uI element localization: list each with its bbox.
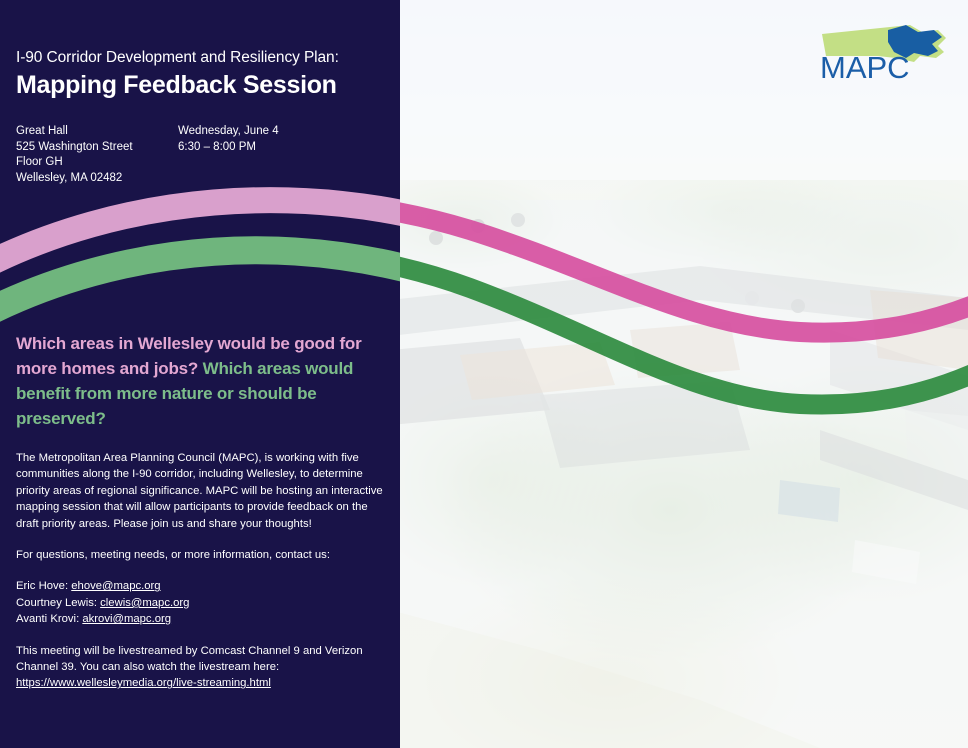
headline-question: Which areas in Wellesley would be good f… [16, 331, 388, 431]
livestream-block: This meeting will be livestreamed by Com… [16, 643, 386, 692]
contact-row: Courtney Lewis: clewis@mapc.org [16, 595, 386, 611]
venue-street: 525 Washington Street [16, 140, 178, 156]
event-time: 6:30 – 8:00 PM [178, 140, 378, 156]
livestream-text: This meeting will be livestreamed by Com… [16, 645, 363, 673]
venue-city-state-zip: Wellesley, MA 02482 [16, 171, 178, 187]
venue-floor: Floor GH [16, 155, 178, 171]
aerial-photo-background [400, 0, 968, 748]
plan-eyebrow: I-90 Corridor Development and Resiliency… [16, 48, 392, 68]
intro-paragraph: The Metropolitan Area Planning Council (… [16, 450, 386, 532]
contact-block: For questions, meeting needs, or more in… [16, 547, 386, 628]
venue-column: Great Hall 525 Washington Street Floor G… [16, 124, 178, 186]
contact-email-link[interactable]: clewis@mapc.org [100, 597, 189, 609]
contact-name: Courtney Lewis: [16, 597, 97, 609]
header-block: I-90 Corridor Development and Resiliency… [16, 48, 392, 101]
contact-row: Avanti Krovi: akrovi@mapc.org [16, 611, 386, 627]
event-details: Great Hall 525 Washington Street Floor G… [16, 124, 392, 186]
mapc-logo: MAPC [818, 22, 954, 84]
contact-email-link[interactable]: ehove@mapc.org [71, 580, 160, 592]
page-title: Mapping Feedback Session [16, 69, 392, 101]
poster-flyer: MAPC I-90 Corridor Development and Resil… [0, 0, 968, 748]
datetime-column: Wednesday, June 4 6:30 – 8:00 PM [178, 124, 378, 186]
mapc-wordmark: MAPC [820, 50, 910, 84]
contact-row: Eric Hove: ehove@mapc.org [16, 578, 386, 594]
livestream-url-link[interactable]: https://www.wellesleymedia.org/live-stre… [16, 675, 386, 691]
contact-spacer [16, 563, 386, 578]
contact-name: Avanti Krovi: [16, 613, 79, 625]
photo-white-overlay [400, 0, 968, 748]
contact-name: Eric Hove: [16, 580, 68, 592]
body-content: The Metropolitan Area Planning Council (… [16, 450, 386, 692]
event-date: Wednesday, June 4 [178, 124, 378, 140]
contact-intro: For questions, meeting needs, or more in… [16, 547, 386, 563]
contact-email-link[interactable]: akrovi@mapc.org [82, 613, 171, 625]
venue-name: Great Hall [16, 124, 178, 140]
